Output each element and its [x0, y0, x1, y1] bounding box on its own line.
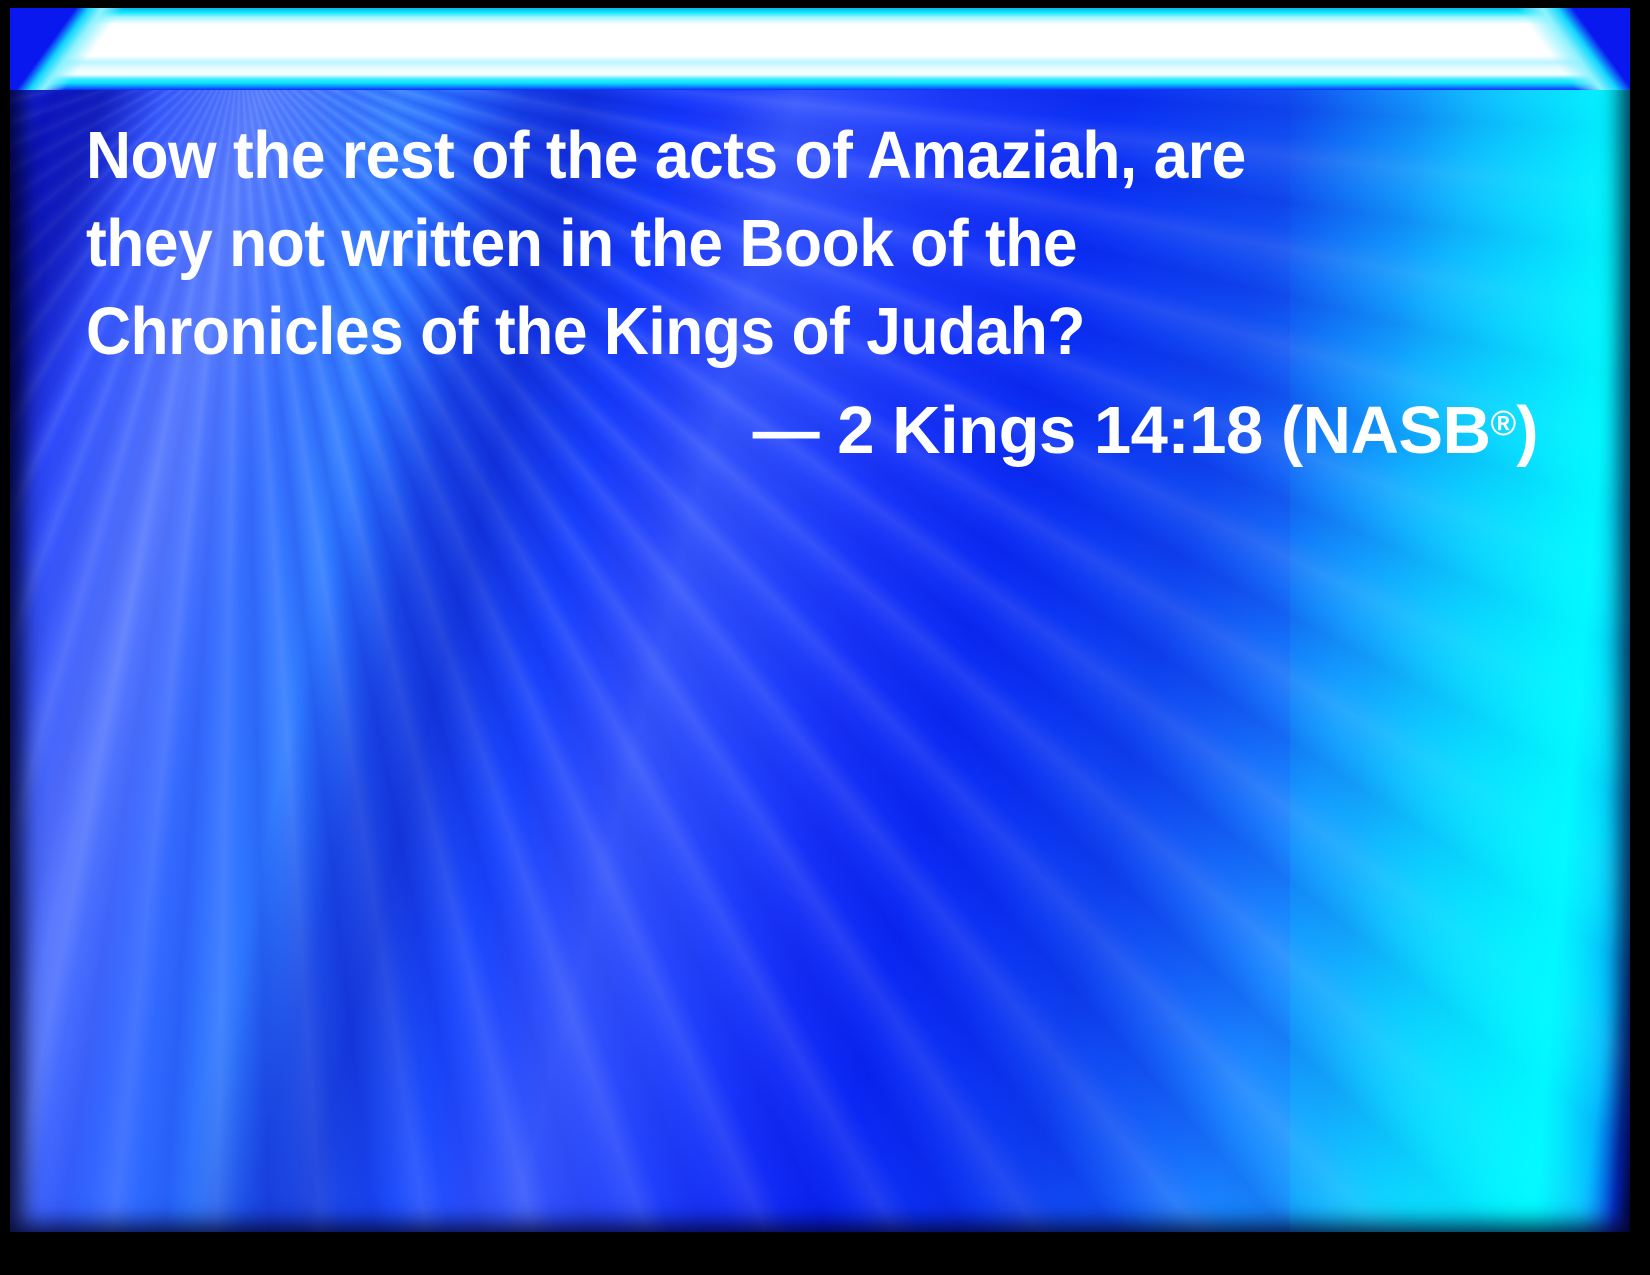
verse-reference: — 2 Kings 14:18 (NASB®)	[86, 380, 1546, 475]
banner-right-taper	[1470, 8, 1630, 90]
registered-trademark-icon: ®	[1491, 404, 1517, 443]
verse-line-2: they not written in the Book of the	[86, 200, 1444, 288]
top-highlight-banner	[10, 8, 1630, 90]
frame-border-bottom	[0, 1232, 1650, 1275]
banner-bottom-glow	[10, 74, 1630, 90]
frame-border-top	[0, 0, 1650, 8]
verse-reference-suffix: )	[1516, 393, 1538, 468]
verse-line-3: Chronicles of the Kings of Judah?	[86, 288, 1444, 376]
verse-text-block: Now the rest of the acts of Amaziah, are…	[86, 112, 1546, 475]
frame-border-left	[0, 0, 10, 1275]
verse-reference-prefix: — 2 Kings 14:18 (NASB	[753, 393, 1491, 468]
banner-left-taper	[10, 8, 170, 90]
frame-border-right	[1630, 0, 1650, 1275]
verse-slide: Now the rest of the acts of Amaziah, are…	[0, 0, 1650, 1275]
verse-line-1: Now the rest of the acts of Amaziah, are	[86, 112, 1444, 200]
